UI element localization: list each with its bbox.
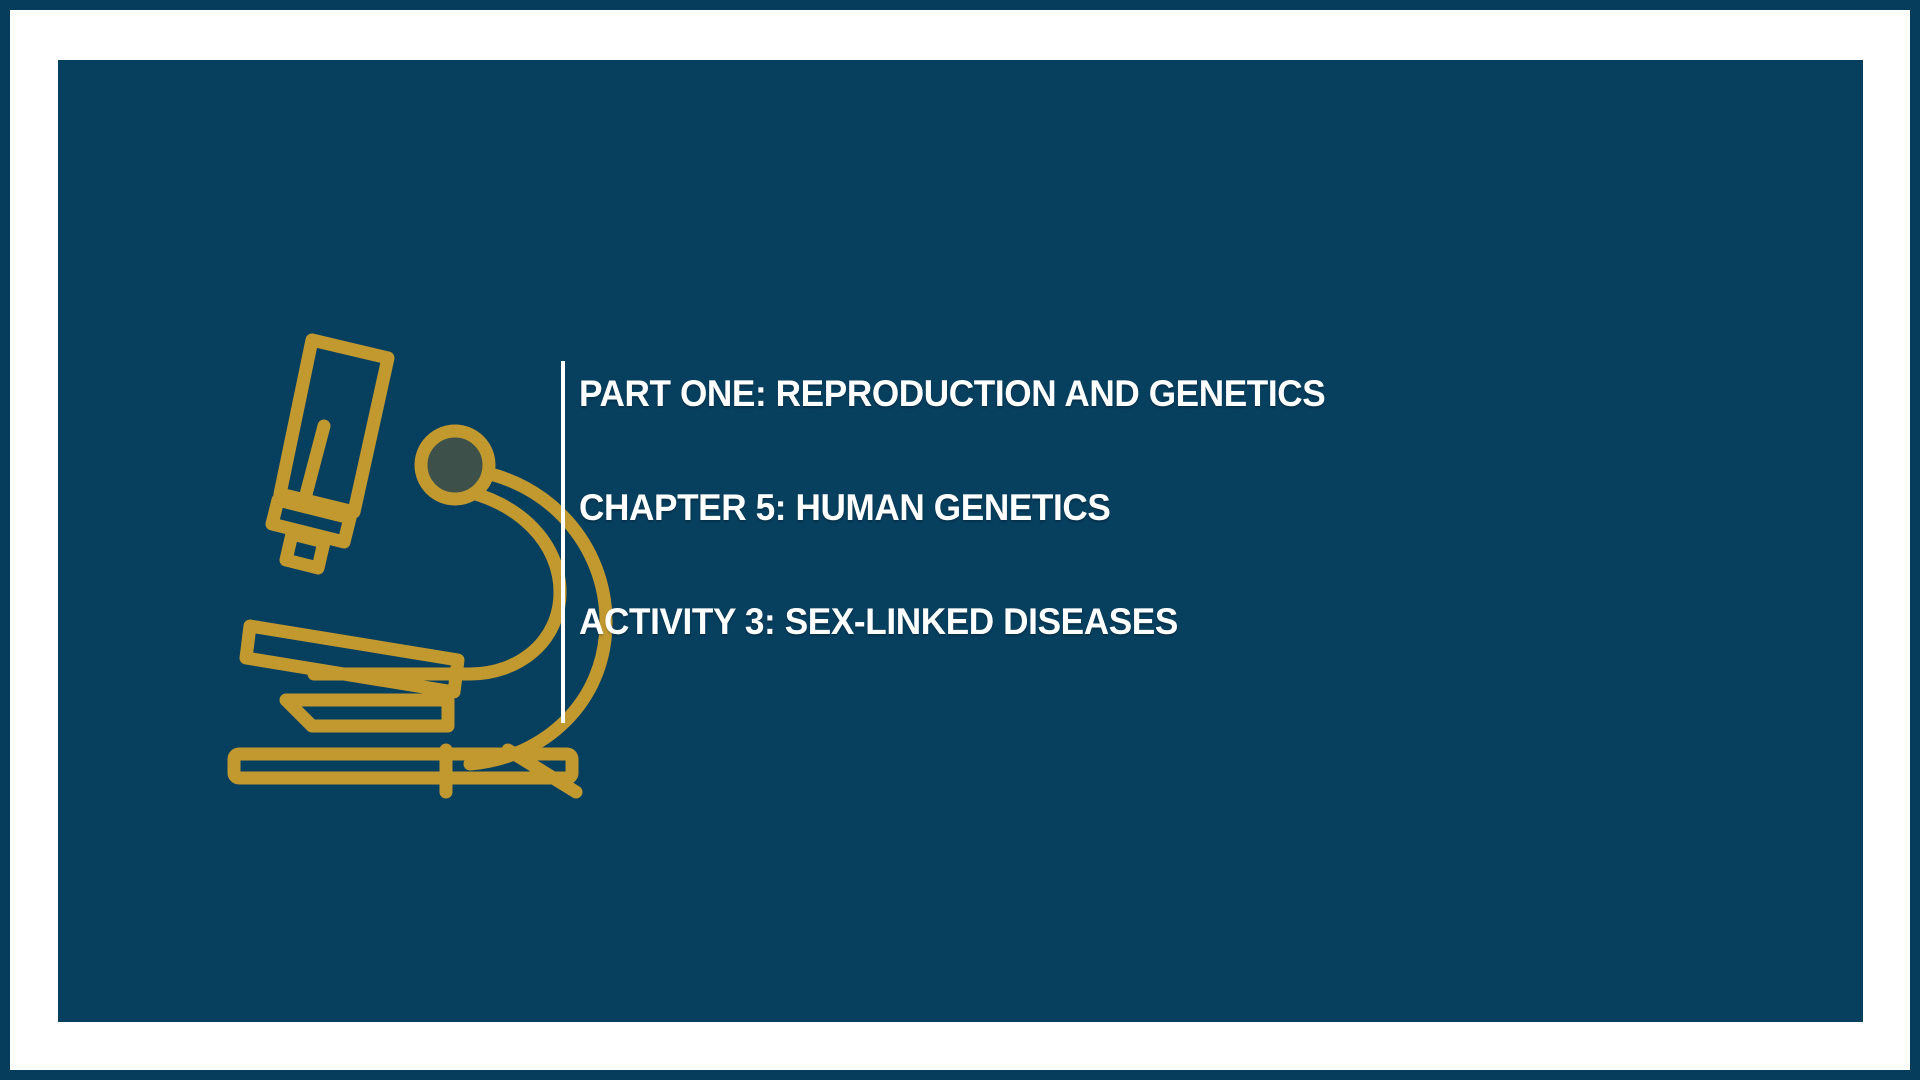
title-line-activity: ACTIVITY 3: SEX-LINKED DISEASES [579, 603, 1178, 640]
title-line-part: PART ONE: REPRODUCTION AND GENETICS [579, 375, 1325, 412]
slide-content-panel: PART ONE: REPRODUCTION AND GENETICS CHAP… [58, 60, 1863, 1022]
title-block: PART ONE: REPRODUCTION AND GENETICS CHAP… [561, 361, 1741, 723]
slide-root: PART ONE: REPRODUCTION AND GENETICS CHAP… [0, 0, 1920, 1080]
title-lines: PART ONE: REPRODUCTION AND GENETICS CHAP… [565, 361, 1741, 723]
title-line-chapter: CHAPTER 5: HUMAN GENETICS [579, 489, 1110, 526]
